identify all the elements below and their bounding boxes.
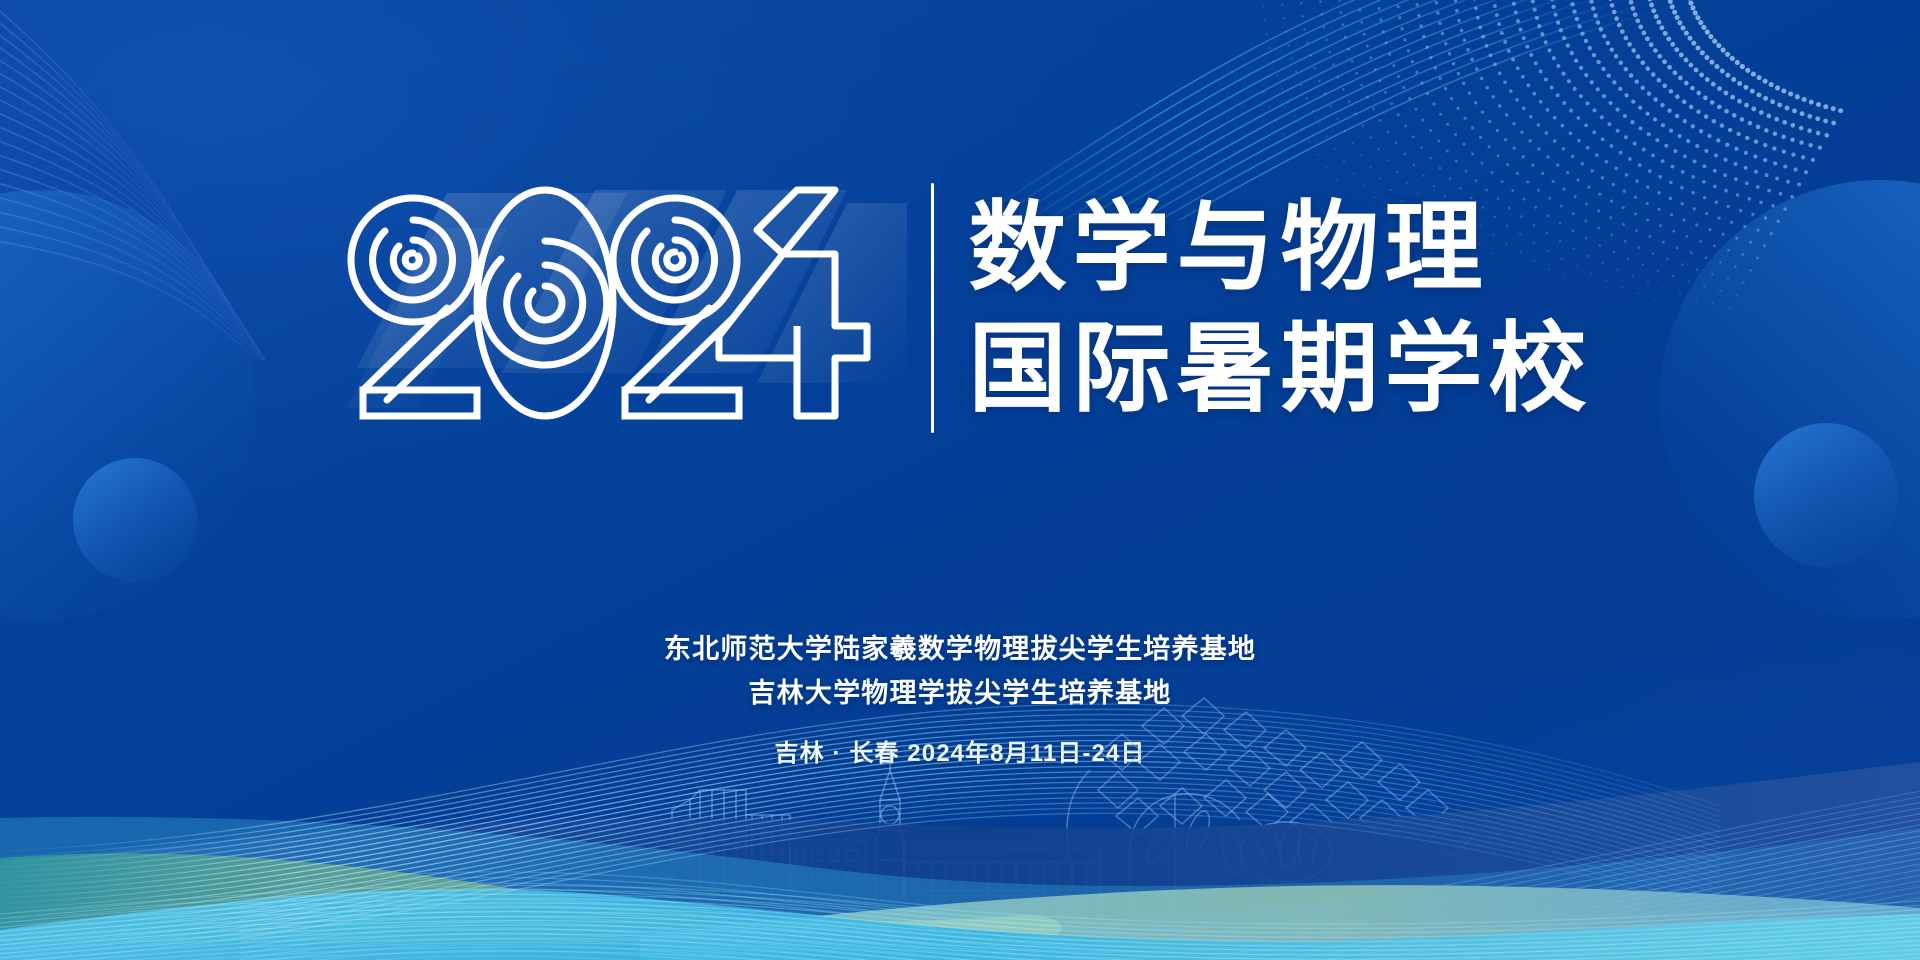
subtitle-line-1: 东北师范大学陆家羲数学物理拔尖学生培养基地 [0,628,1920,672]
headline-group: 数学与物理 国际暑期学校 [0,168,1920,448]
vertical-divider [931,183,934,433]
title-line-1: 数学与物理 [968,187,1592,308]
title-line-2: 国际暑期学校 [968,308,1592,429]
subtitle-group: 东北师范大学陆家羲数学物理拔尖学生培养基地 吉林大学物理学拔尖学生培养基地 吉林… [0,628,1920,768]
spiral-2024-logo [327,168,907,448]
title-block: 数学与物理 国际暑期学校 [968,187,1592,428]
subtitle-line-2: 吉林大学物理学拔尖学生培养基地 [0,672,1920,716]
date-location-line: 吉林 · 长春 2024年8月11日-24日 [0,733,1920,768]
banner-poster: 数学与物理 国际暑期学校 东北师范大学陆家羲数学物理拔尖学生培养基地 吉林大学物… [0,0,1920,960]
